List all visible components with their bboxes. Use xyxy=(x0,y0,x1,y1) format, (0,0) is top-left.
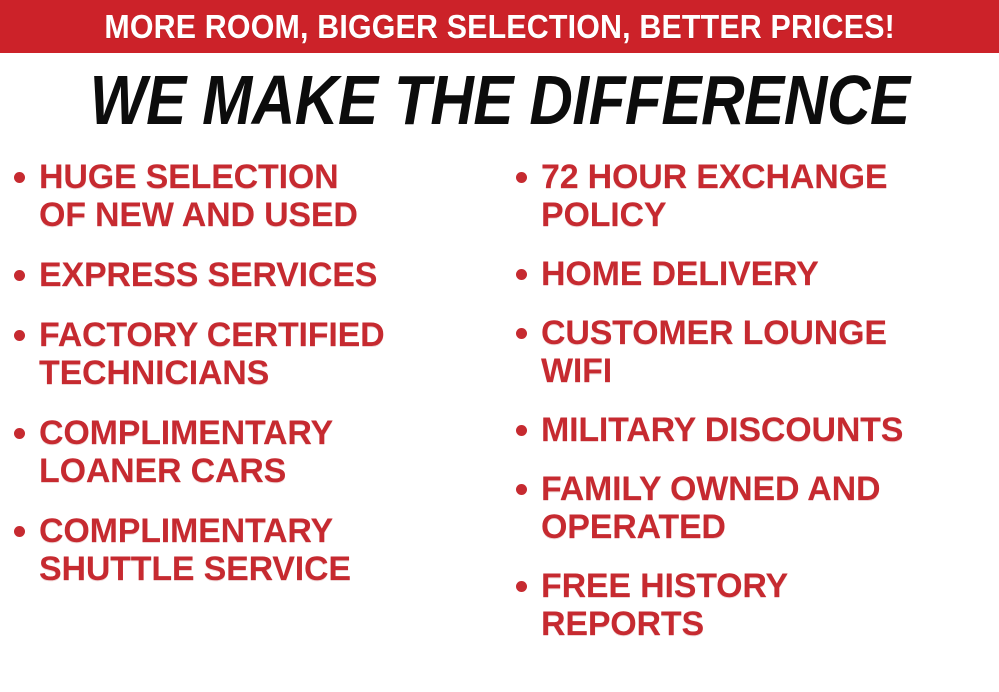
top-promo-banner: MORE ROOM, BIGGER SELECTION, BETTER PRIC… xyxy=(0,0,999,53)
list-item: FAMILY OWNED AND OPERATED xyxy=(516,470,999,546)
features-columns: HUGE SELECTION OF NEW AND USEDEXPRESS SE… xyxy=(0,158,999,692)
list-item-label: CUSTOMER LOUNGE WIFI xyxy=(541,314,887,390)
bullet-dot-icon xyxy=(516,484,527,495)
list-item-label: 72 HOUR EXCHANGE POLICY xyxy=(541,158,887,234)
list-item: HUGE SELECTION OF NEW AND USED xyxy=(14,158,500,234)
list-item: FACTORY CERTIFIED TECHNICIANS xyxy=(14,316,500,392)
list-item-label: HUGE SELECTION OF NEW AND USED xyxy=(39,158,358,234)
list-item-label: FACTORY CERTIFIED TECHNICIANS xyxy=(39,316,384,392)
bullet-dot-icon xyxy=(516,328,527,339)
bullet-dot-icon xyxy=(516,581,527,592)
list-item-label: COMPLIMENTARY SHUTTLE SERVICE xyxy=(39,512,351,588)
list-item-label: EXPRESS SERVICES xyxy=(39,256,377,294)
list-item: HOME DELIVERY xyxy=(516,255,999,293)
list-item: MILITARY DISCOUNTS xyxy=(516,411,999,449)
list-item-label: FAMILY OWNED AND OPERATED xyxy=(541,470,880,546)
list-item-label: MILITARY DISCOUNTS xyxy=(541,411,903,449)
list-item-label: HOME DELIVERY xyxy=(541,255,819,293)
bullet-dot-icon xyxy=(14,526,25,537)
bullet-dot-icon xyxy=(516,269,527,280)
list-item-label: COMPLIMENTARY LOANER CARS xyxy=(39,414,333,490)
top-promo-banner-text: MORE ROOM, BIGGER SELECTION, BETTER PRIC… xyxy=(104,10,895,43)
headline: WE MAKE THE DIFFERENCE xyxy=(0,62,999,138)
list-item: 72 HOUR EXCHANGE POLICY xyxy=(516,158,999,234)
list-item: COMPLIMENTARY SHUTTLE SERVICE xyxy=(14,512,500,588)
features-column-left: HUGE SELECTION OF NEW AND USEDEXPRESS SE… xyxy=(14,158,500,610)
features-column-right: 72 HOUR EXCHANGE POLICYHOME DELIVERYCUST… xyxy=(516,158,999,664)
bullet-dot-icon xyxy=(14,270,25,281)
headline-text: WE MAKE THE DIFFERENCE xyxy=(90,62,910,138)
list-item: COMPLIMENTARY LOANER CARS xyxy=(14,414,500,490)
list-item: FREE HISTORY REPORTS xyxy=(516,567,999,643)
list-item: EXPRESS SERVICES xyxy=(14,256,500,294)
bullet-dot-icon xyxy=(14,428,25,439)
advertisement-banner: MORE ROOM, BIGGER SELECTION, BETTER PRIC… xyxy=(0,0,999,692)
list-item-label: FREE HISTORY REPORTS xyxy=(541,567,788,643)
bullet-dot-icon xyxy=(516,172,527,183)
list-item: CUSTOMER LOUNGE WIFI xyxy=(516,314,999,390)
bullet-dot-icon xyxy=(14,172,25,183)
bullet-dot-icon xyxy=(516,425,527,436)
bullet-dot-icon xyxy=(14,330,25,341)
